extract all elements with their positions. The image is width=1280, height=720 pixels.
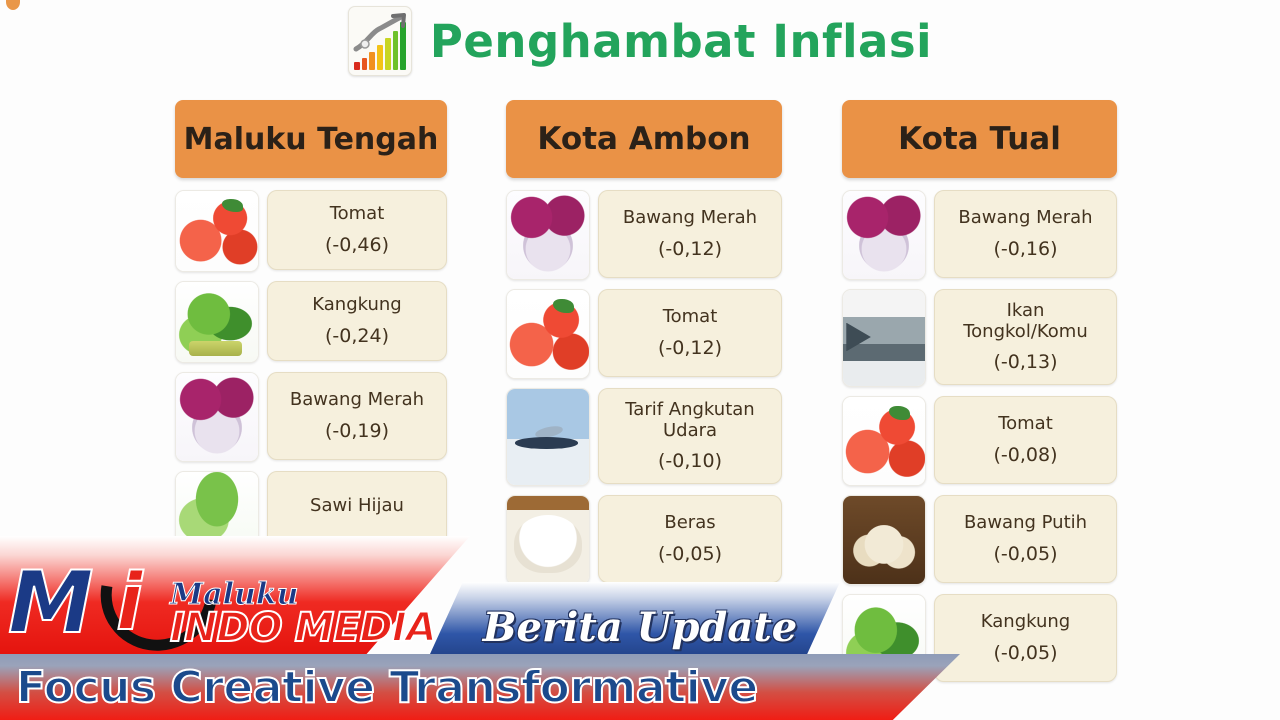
slide-canvas: Penghambat Inflasi Maluku Tengah Tomat (…: [0, 0, 1280, 720]
list-item[interactable]: Beras (-0,05): [506, 495, 782, 585]
item-name: Sawi Hijau: [310, 496, 404, 517]
item-label-card: Bawang Merah (-0,12): [598, 190, 782, 278]
item-value: (-0,12): [658, 337, 722, 359]
item-label-card: Kangkung (-0,05): [934, 594, 1117, 682]
column-kota-ambon: Kota Ambon Bawang Merah (-0,12) Tomat (-…: [506, 100, 782, 594]
item-name: Bawang Merah: [623, 208, 757, 229]
water-spinach-image: [175, 281, 259, 363]
column-maluku-tengah: Maluku Tengah Tomat (-0,46) Kangkung (-0…: [175, 100, 447, 562]
item-name: Bawang Putih: [964, 513, 1087, 534]
list-item[interactable]: Tarif Angkutan Udara (-0,10): [506, 388, 782, 486]
item-value: (-0,12): [658, 238, 722, 260]
item-name: Tomat: [998, 414, 1053, 435]
item-value: (-0,05): [994, 642, 1058, 664]
item-name: Tomat: [330, 204, 385, 225]
shallot-image: [506, 190, 590, 280]
item-value: (-0,05): [658, 543, 722, 565]
list-item[interactable]: Bawang Merah (-0,12): [506, 190, 782, 280]
item-label-card: Ikan Tongkol/Komu (-0,13): [934, 289, 1117, 385]
list-item[interactable]: Tomat (-0,12): [506, 289, 782, 379]
item-value: (-0,19): [325, 420, 389, 442]
list-item[interactable]: Kangkung (-0,05): [842, 594, 1117, 684]
fish-image: [842, 289, 926, 387]
chart-growth-icon: [348, 6, 412, 76]
item-label-card: Kangkung (-0,24): [267, 281, 447, 361]
item-value: (-0,10): [658, 450, 722, 472]
page-title: Penghambat Inflasi: [430, 15, 932, 68]
list-item[interactable]: Bawang Putih (-0,05): [842, 495, 1117, 585]
tomato-image: [175, 190, 259, 272]
garlic-image: [842, 495, 926, 585]
item-label-card: Bawang Putih (-0,05): [934, 495, 1117, 583]
column-rows-maluku-tengah: Tomat (-0,46) Kangkung (-0,24) Bawang Me…: [175, 190, 447, 553]
item-name: Ikan Tongkol/Komu: [943, 301, 1108, 343]
item-label-card: Tomat (-0,12): [598, 289, 782, 377]
item-name: Kangkung: [312, 295, 401, 316]
item-name: Bawang Merah: [290, 390, 424, 411]
shallot-image: [175, 372, 259, 462]
item-name: Tarif Angkutan Udara: [607, 400, 773, 442]
green-mustard-image: [175, 471, 259, 553]
item-label-card: Beras (-0,05): [598, 495, 782, 583]
item-value: (-0,08): [994, 444, 1058, 466]
item-label-card: Tomat (-0,08): [934, 396, 1117, 484]
item-name: Tomat: [663, 307, 718, 328]
list-item[interactable]: Bawang Merah (-0,19): [175, 372, 447, 462]
item-name: Beras: [664, 513, 715, 534]
item-value: (-0,46): [325, 234, 389, 256]
item-name: Bawang Merah: [958, 208, 1092, 229]
list-item[interactable]: Sawi Hijau: [175, 471, 447, 553]
list-item[interactable]: Tomat (-0,46): [175, 190, 447, 272]
item-label-card: Sawi Hijau: [267, 471, 447, 551]
item-name: Kangkung: [981, 612, 1070, 633]
item-value: (-0,24): [325, 325, 389, 347]
item-label-card: Bawang Merah (-0,16): [934, 190, 1117, 278]
list-item[interactable]: Tomat (-0,08): [842, 396, 1117, 486]
slide-title-row: Penghambat Inflasi: [0, 6, 1280, 76]
arrow-hand-icon: [353, 13, 407, 59]
list-item[interactable]: Kangkung (-0,24): [175, 281, 447, 363]
item-value: (-0,13): [994, 351, 1058, 373]
list-item[interactable]: Bawang Merah (-0,16): [842, 190, 1117, 280]
item-label-card: Bawang Merah (-0,19): [267, 372, 447, 460]
column-rows-kota-ambon: Bawang Merah (-0,12) Tomat (-0,12) Tarif…: [506, 190, 782, 585]
item-value: (-0,05): [994, 543, 1058, 565]
column-header-kota-ambon: Kota Ambon: [506, 100, 782, 178]
columns-container: Maluku Tengah Tomat (-0,46) Kangkung (-0…: [0, 100, 1280, 720]
column-header-kota-tual: Kota Tual: [842, 100, 1117, 178]
item-label-card: Tomat (-0,46): [267, 190, 447, 270]
airplane-image: [506, 388, 590, 486]
list-item[interactable]: Ikan Tongkol/Komu (-0,13): [842, 289, 1117, 387]
water-spinach-image: [842, 594, 926, 684]
rice-image: [506, 495, 590, 585]
item-value: (-0,16): [994, 238, 1058, 260]
shallot-image: [842, 190, 926, 280]
tomato-image: [506, 289, 590, 379]
tomato-image: [842, 396, 926, 486]
column-header-maluku-tengah: Maluku Tengah: [175, 100, 447, 178]
column-rows-kota-tual: Bawang Merah (-0,16) Ikan Tongkol/Komu (…: [842, 190, 1117, 684]
item-label-card: Tarif Angkutan Udara (-0,10): [598, 388, 782, 484]
column-kota-tual: Kota Tual Bawang Merah (-0,16) Ikan Tong…: [842, 100, 1117, 693]
